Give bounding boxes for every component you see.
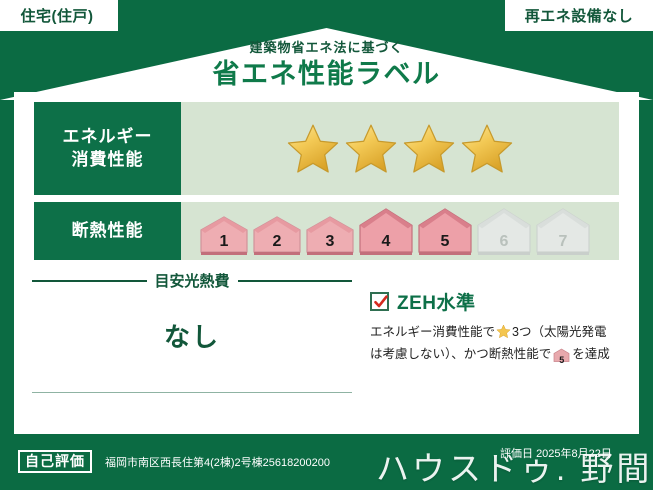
watermark: ハウスドゥ. 野間大池 — [376, 442, 653, 490]
zeh-title-text: ZEH水準 — [397, 288, 476, 315]
section-separator — [359, 270, 360, 420]
zeh-desc-part2: は考慮しない）、かつ断熱性能で — [370, 347, 551, 361]
tag-renewable-equipment: 再エネ設備なし — [505, 0, 653, 31]
utility-cost-rule-left — [32, 280, 147, 282]
insulation-level-6: 6 — [476, 206, 532, 256]
label-title-block: 建築物省エネ法に基づく 省エネ性能ラベル — [0, 40, 653, 91]
zeh-description: エネルギー消費性能で3つ（太陽光発電 は考慮しない）、かつ断熱性能で5を達成 — [370, 323, 620, 369]
label-subtitle: 建築物省エネ法に基づく — [0, 40, 653, 56]
star-icon-inline — [496, 324, 511, 345]
insulation-performance-row: 断熱性能 1234567 — [34, 202, 619, 260]
house-icon-inline: 5 — [553, 348, 570, 368]
energy-performance-label: エネルギー 消費性能 — [34, 102, 181, 195]
insulation-level-7: 7 — [535, 206, 591, 256]
insulation-level-scale: 1234567 — [199, 206, 591, 256]
insulation-performance-value: 1234567 — [181, 202, 619, 260]
zeh-block: ZEH水準 エネルギー消費性能で3つ（太陽光発電 は考慮しない）、かつ断熱性能で… — [370, 288, 620, 369]
house-icon-inline-number: 5 — [553, 354, 570, 368]
insulation-level-3: 3 — [305, 214, 355, 256]
star-rating — [285, 122, 515, 176]
insulation-level-5: 5 — [417, 206, 473, 256]
zeh-desc-part3: を達成 — [572, 347, 610, 361]
star-icon — [285, 122, 341, 176]
insulation-performance-label: 断熱性能 — [34, 202, 181, 260]
zeh-desc-part1: エネルギー消費性能で — [370, 325, 495, 339]
label-content-card: エネルギー 消費性能 断熱性能 1234567 目安光熱費 なし — [14, 92, 639, 434]
insulation-level-4: 4 — [358, 206, 414, 256]
utility-cost-heading: 目安光熱費 — [32, 270, 352, 291]
check-icon — [373, 294, 389, 310]
utility-cost-divider — [32, 392, 352, 393]
label-title: 省エネ性能ラベル — [0, 58, 653, 92]
star-icon — [401, 122, 457, 176]
energy-performance-label-line1: エネルギー — [63, 126, 153, 149]
insulation-level-2: 2 — [252, 214, 302, 256]
energy-performance-label-line2: 消費性能 — [72, 149, 144, 172]
energy-performance-row: エネルギー 消費性能 — [34, 102, 619, 195]
utility-cost-heading-text: 目安光熱費 — [155, 270, 230, 291]
star-icon — [459, 122, 515, 176]
tag-building-type: 住宅(住戸) — [0, 0, 118, 31]
energy-performance-value — [181, 102, 619, 195]
zeh-title-row: ZEH水準 — [370, 288, 620, 315]
property-address: 福岡市南区西長住第4(2棟)2号棟25618200200 — [105, 454, 330, 470]
energy-label-root: 住宅(住戸) 再エネ設備なし 建築物省エネ法に基づく 省エネ性能ラベル エネルギ… — [0, 0, 653, 489]
utility-cost-rule-right — [238, 280, 353, 282]
insulation-level-1: 1 — [199, 214, 249, 256]
zeh-desc-star-count: 3つ（太陽光発電 — [512, 325, 606, 339]
insulation-performance-label-text: 断熱性能 — [72, 220, 144, 243]
self-evaluation-badge: 自己評価 — [18, 450, 92, 473]
zeh-checkbox — [370, 292, 389, 311]
star-icon — [343, 122, 399, 176]
utility-cost-block: 目安光熱費 なし — [32, 270, 352, 354]
utility-cost-value: なし — [32, 317, 352, 354]
